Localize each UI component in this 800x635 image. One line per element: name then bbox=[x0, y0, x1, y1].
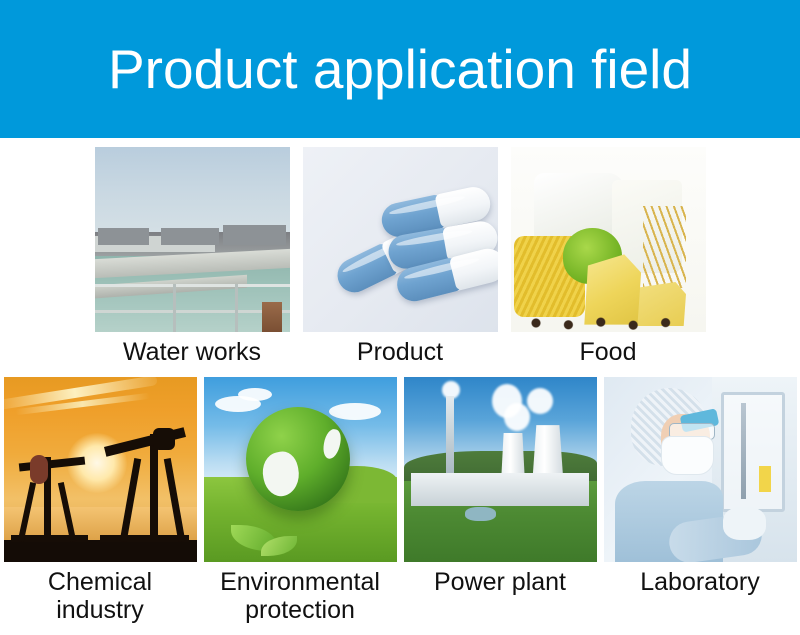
application-card-label: Laboratory bbox=[640, 568, 760, 596]
application-card-power-plant[interactable]: Power plant bbox=[404, 377, 597, 624]
application-card-chemical-industry[interactable]: Chemical industry bbox=[4, 377, 197, 624]
application-card-label: Product bbox=[357, 338, 443, 366]
lab-technician-cleanroom-photo bbox=[604, 377, 797, 562]
application-card-label: Food bbox=[580, 338, 637, 366]
green-leaf-globe-photo bbox=[204, 377, 397, 562]
application-card-label: Environmental protection bbox=[220, 568, 380, 624]
water-treatment-plant-photo bbox=[95, 147, 290, 332]
page-title: Product application field bbox=[108, 42, 692, 97]
blue-white-capsules-photo bbox=[303, 147, 498, 332]
application-card-product[interactable]: Product bbox=[303, 147, 498, 366]
application-card-laboratory[interactable]: Laboratory bbox=[604, 377, 797, 624]
application-row-bottom: Chemical industry Environmental protecti… bbox=[0, 377, 800, 624]
application-card-label: Power plant bbox=[434, 568, 566, 596]
application-card-label: Water works bbox=[123, 338, 261, 366]
dairy-cheese-pasta-photo bbox=[511, 147, 706, 332]
application-card-environmental-protection[interactable]: Environmental protection bbox=[204, 377, 397, 624]
cooling-towers-power-station-photo bbox=[404, 377, 597, 562]
oil-pumpjack-sunset-photo bbox=[4, 377, 197, 562]
header-banner: Product application field bbox=[0, 0, 800, 138]
application-card-water-works[interactable]: Water works bbox=[95, 147, 290, 366]
application-row-top: Water works Product bbox=[0, 147, 800, 366]
application-card-label: Chemical industry bbox=[48, 568, 152, 624]
application-card-food[interactable]: Food bbox=[511, 147, 706, 366]
